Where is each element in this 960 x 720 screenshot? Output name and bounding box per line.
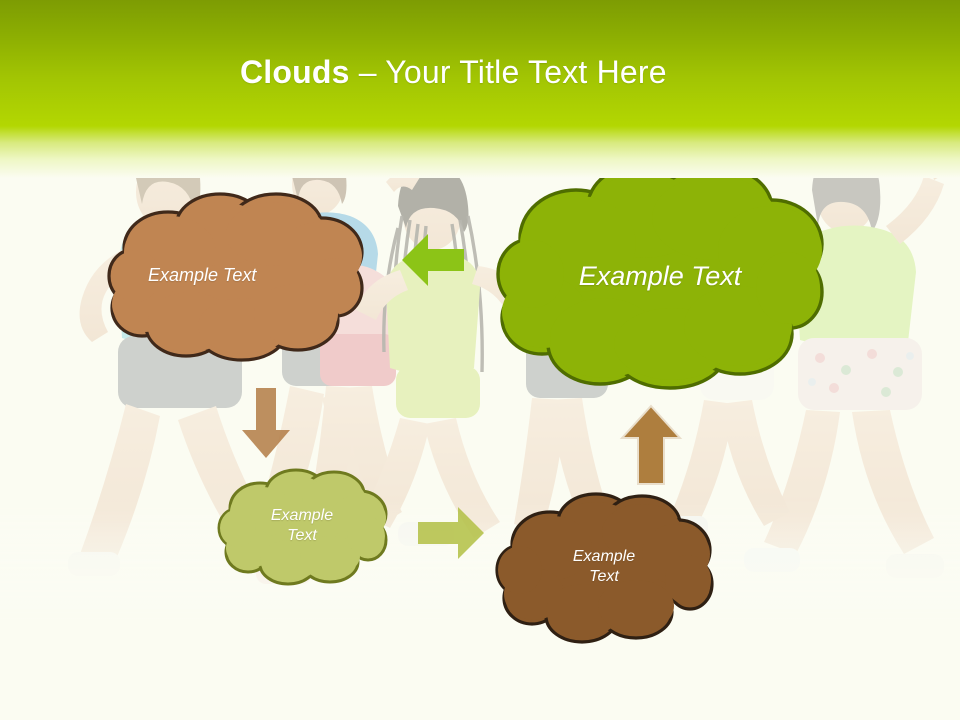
- slide-canvas: Example Text: [0, 0, 960, 720]
- arrow-left-green: [402, 232, 464, 288]
- page-title-separator: –: [350, 54, 386, 90]
- page-title-rest: Your Title Text Here: [385, 54, 666, 90]
- arrow-up-brown: [620, 406, 682, 484]
- page-title: Clouds – Your Title Text Here: [240, 52, 667, 92]
- page-title-bold: Clouds: [240, 54, 350, 90]
- cloud-brown-top[interactable]: Example Text: [108, 190, 364, 362]
- cloud-brown-bottom[interactable]: Example Text: [496, 492, 712, 642]
- header-fade: [0, 126, 960, 178]
- arrow-down-brown: [240, 388, 292, 458]
- arrow-right-olive: [418, 505, 484, 561]
- cloud-olive-small[interactable]: Example Text: [218, 468, 386, 584]
- cloud-green-big[interactable]: Example Text: [498, 162, 822, 390]
